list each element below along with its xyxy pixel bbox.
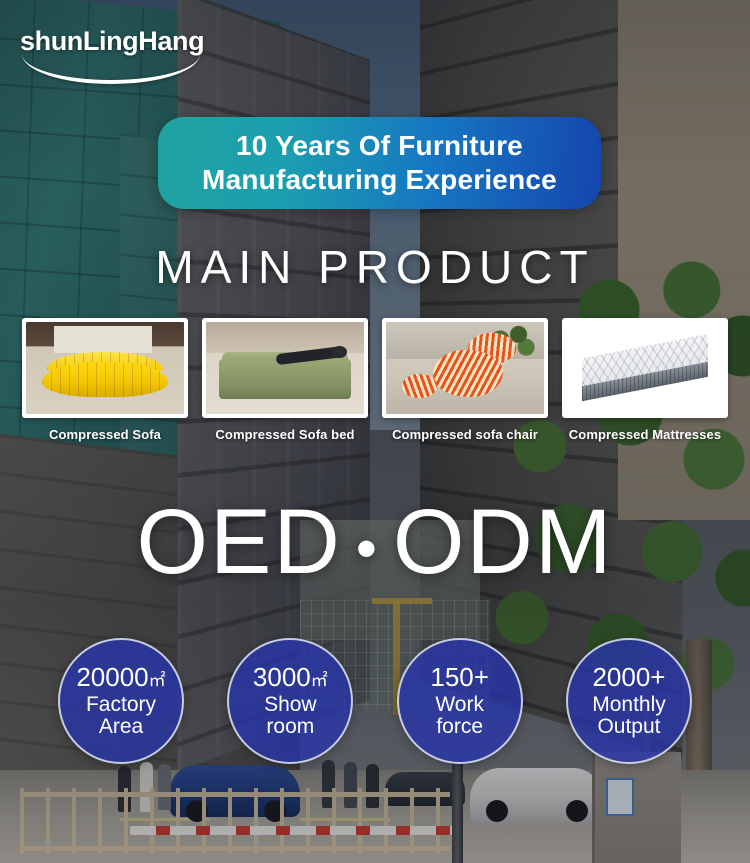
stat-value: 3000㎡ xyxy=(253,664,328,691)
experience-headline-badge: 10 Years Of Furniture Manufacturing Expe… xyxy=(158,117,601,209)
chair-body xyxy=(433,350,503,398)
separator-dot-icon: • xyxy=(342,515,393,582)
stat-value: 20000㎡ xyxy=(76,664,165,691)
stat-circle-monthly-output: 2000+ Monthly Output xyxy=(566,638,692,764)
stat-label-line-2: Area xyxy=(86,716,156,738)
product-card-label: Compressed Sofa bed xyxy=(202,427,368,442)
stat-number: 150+ xyxy=(430,662,489,692)
product-card-frame xyxy=(562,318,728,418)
stat-label: Work force xyxy=(435,694,484,738)
reclining-person-head xyxy=(332,346,346,358)
stat-label-line-1: Monthly xyxy=(592,694,666,716)
stat-value: 150+ xyxy=(430,664,489,691)
stat-label-line-1: Work xyxy=(435,694,484,716)
grey-quilted-mattress-photo xyxy=(566,322,724,414)
product-card[interactable]: Compressed Sofa xyxy=(22,318,188,442)
stat-label-line-1: Factory xyxy=(86,694,156,716)
stat-unit: ㎡ xyxy=(311,671,328,690)
section-title-main-product: MAIN PRODUCT xyxy=(0,240,750,294)
swoosh-underline-icon xyxy=(22,54,200,84)
service-title-left: OED xyxy=(136,491,341,593)
stat-number: 20000 xyxy=(76,662,148,692)
stat-number: 2000+ xyxy=(592,662,665,692)
sofa-bed-mattress xyxy=(219,359,352,399)
showroom-wall xyxy=(54,326,152,354)
stat-label-line-2: Output xyxy=(592,716,666,738)
service-title-oed-odm: OED•ODM xyxy=(0,496,750,588)
headline-line-2: Manufacturing Experience xyxy=(202,163,557,197)
sofa-seat xyxy=(42,362,168,397)
stat-label: Factory Area xyxy=(86,694,156,738)
company-logo: shunLingHang xyxy=(20,28,210,86)
product-card-frame xyxy=(22,318,188,418)
stat-circle-factory-area: 20000㎡ Factory Area xyxy=(58,638,184,764)
headline-line-1: 10 Years Of Furniture xyxy=(236,129,523,163)
orange-striped-sofa-chair-photo xyxy=(386,322,544,414)
product-card[interactable]: Compressed sofa chair xyxy=(382,318,548,442)
stat-unit: ㎡ xyxy=(149,671,166,690)
stat-label: Monthly Output xyxy=(592,694,666,738)
product-card[interactable]: Compressed Mattresses xyxy=(562,318,728,442)
stat-circle-showroom: 3000㎡ Show room xyxy=(227,638,353,764)
green-sofa-bed-photo xyxy=(206,322,364,414)
product-card-label: Compressed sofa chair xyxy=(382,427,548,442)
product-card-label: Compressed Mattresses xyxy=(562,427,728,442)
banner-content: shunLingHang 10 Years Of Furniture Manuf… xyxy=(0,0,750,863)
stats-circle-list: 20000㎡ Factory Area 3000㎡ Show room 150+… xyxy=(58,638,692,764)
product-card-list: Compressed Sofa Compressed Sofa bed xyxy=(22,318,728,442)
stat-number: 3000 xyxy=(253,662,311,692)
product-card-frame xyxy=(382,318,548,418)
stat-label: Show room xyxy=(264,694,317,738)
stat-value: 2000+ xyxy=(592,664,665,691)
promotional-banner: shunLingHang 10 Years Of Furniture Manuf… xyxy=(0,0,750,863)
product-card[interactable]: Compressed Sofa bed xyxy=(202,318,368,442)
stat-label-line-2: room xyxy=(264,716,317,738)
spherical-ottoman xyxy=(402,374,437,399)
product-card-label: Compressed Sofa xyxy=(22,427,188,442)
service-title-right: ODM xyxy=(393,491,614,593)
stat-label-line-1: Show xyxy=(264,694,317,716)
product-card-frame xyxy=(202,318,368,418)
logo-wordmark: shunLingHang xyxy=(20,28,210,55)
yellow-bubble-sofa-photo xyxy=(26,322,184,414)
stat-circle-workforce: 150+ Work force xyxy=(397,638,523,764)
stat-label-line-2: force xyxy=(435,716,484,738)
